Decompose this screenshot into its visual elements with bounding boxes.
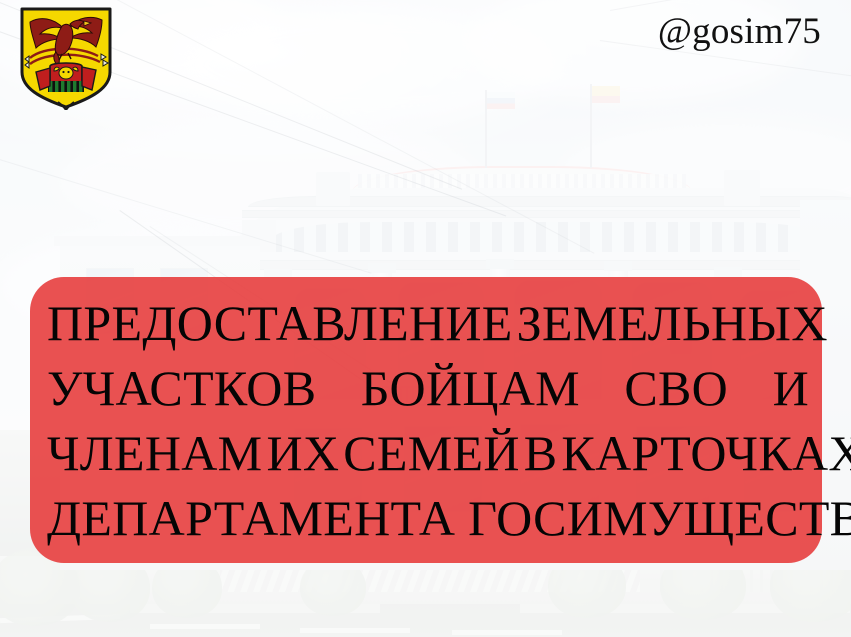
road-marking [150,624,260,629]
title-line: УЧАСТКОВБОЙЦАМСВОИ [47,356,809,421]
title-line: ЧЛЕНАМИХСЕМЕЙВКАРТОЧКАХ [47,421,809,486]
coat-of-arms-zabaykalsky-krai [18,6,114,110]
roof-pylon [724,170,760,206]
road-marking [300,628,410,633]
road-marking [452,630,562,635]
title-line: ДЕПАРТАМЕНТА ГОСИМУЩЕСТВА [47,486,809,551]
roof-pylon [316,172,350,206]
cornice [242,210,851,218]
title-line: ПРЕДОСТАВЛЕНИЕЗЕМЕЛЬНЫХ [47,291,809,356]
account-handle: @gosim75 [658,12,821,53]
frieze-ornament [272,222,832,252]
regional-flag [592,86,620,103]
title-banner: ПРЕДОСТАВЛЕНИЕЗЕМЕЛЬНЫХ УЧАСТКОВБОЙЦАМСВ… [30,277,822,563]
russian-flag [487,92,515,109]
title-text-block: ПРЕДОСТАВЛЕНИЕЗЕМЕЛЬНЫХ УЧАСТКОВБОЙЦАМСВ… [47,291,809,551]
poster-canvas: @gosim75 ПРЕДОСТАВЛЕНИЕЗЕМЕЛЬНЫХ УЧАСТКО… [0,0,851,637]
